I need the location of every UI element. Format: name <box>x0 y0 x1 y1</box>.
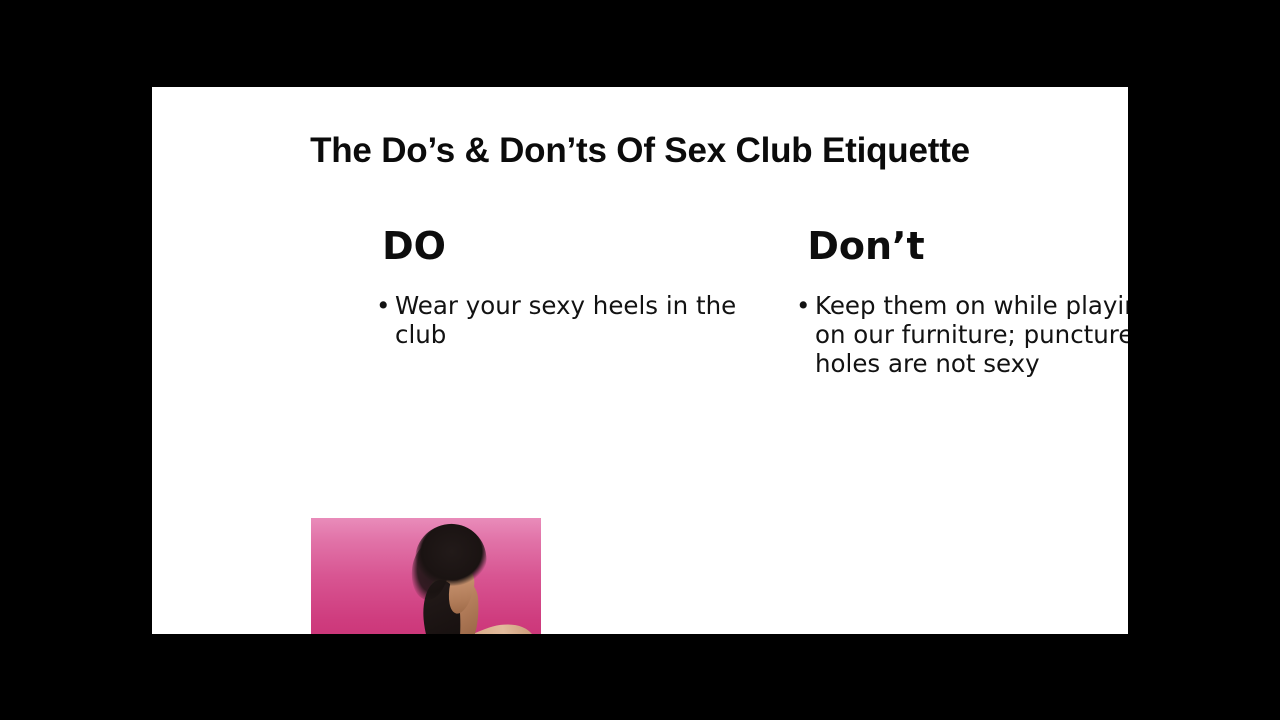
bullet-marker-icon: • <box>376 291 390 320</box>
bullet-list-dont: • Keep them on while playing on our furn… <box>790 291 1128 378</box>
page-title: The Do’s & Don’ts Of Sex Club Etiquette <box>152 131 1128 171</box>
column-heading-do: DO <box>192 227 632 271</box>
column-do: DO • Wear your sexy heels in the club <box>192 227 632 349</box>
list-item: • Keep them on while playing on our furn… <box>790 291 1128 378</box>
column-heading-dont: Don’t <box>630 227 1090 271</box>
pink-studio-scene <box>311 518 541 634</box>
presentation-slide: The Do’s & Don’ts Of Sex Club Etiquette … <box>152 87 1128 634</box>
woman-in-heels-on-pink-photo <box>311 518 541 634</box>
screen-stage: The Do’s & Don’ts Of Sex Club Etiquette … <box>0 0 1280 720</box>
bullet-text: Keep them on while playing on our furnit… <box>815 291 1128 378</box>
bullet-marker-icon: • <box>796 291 810 320</box>
column-dont: Don’t • Keep them on while playing on ou… <box>630 227 1090 378</box>
